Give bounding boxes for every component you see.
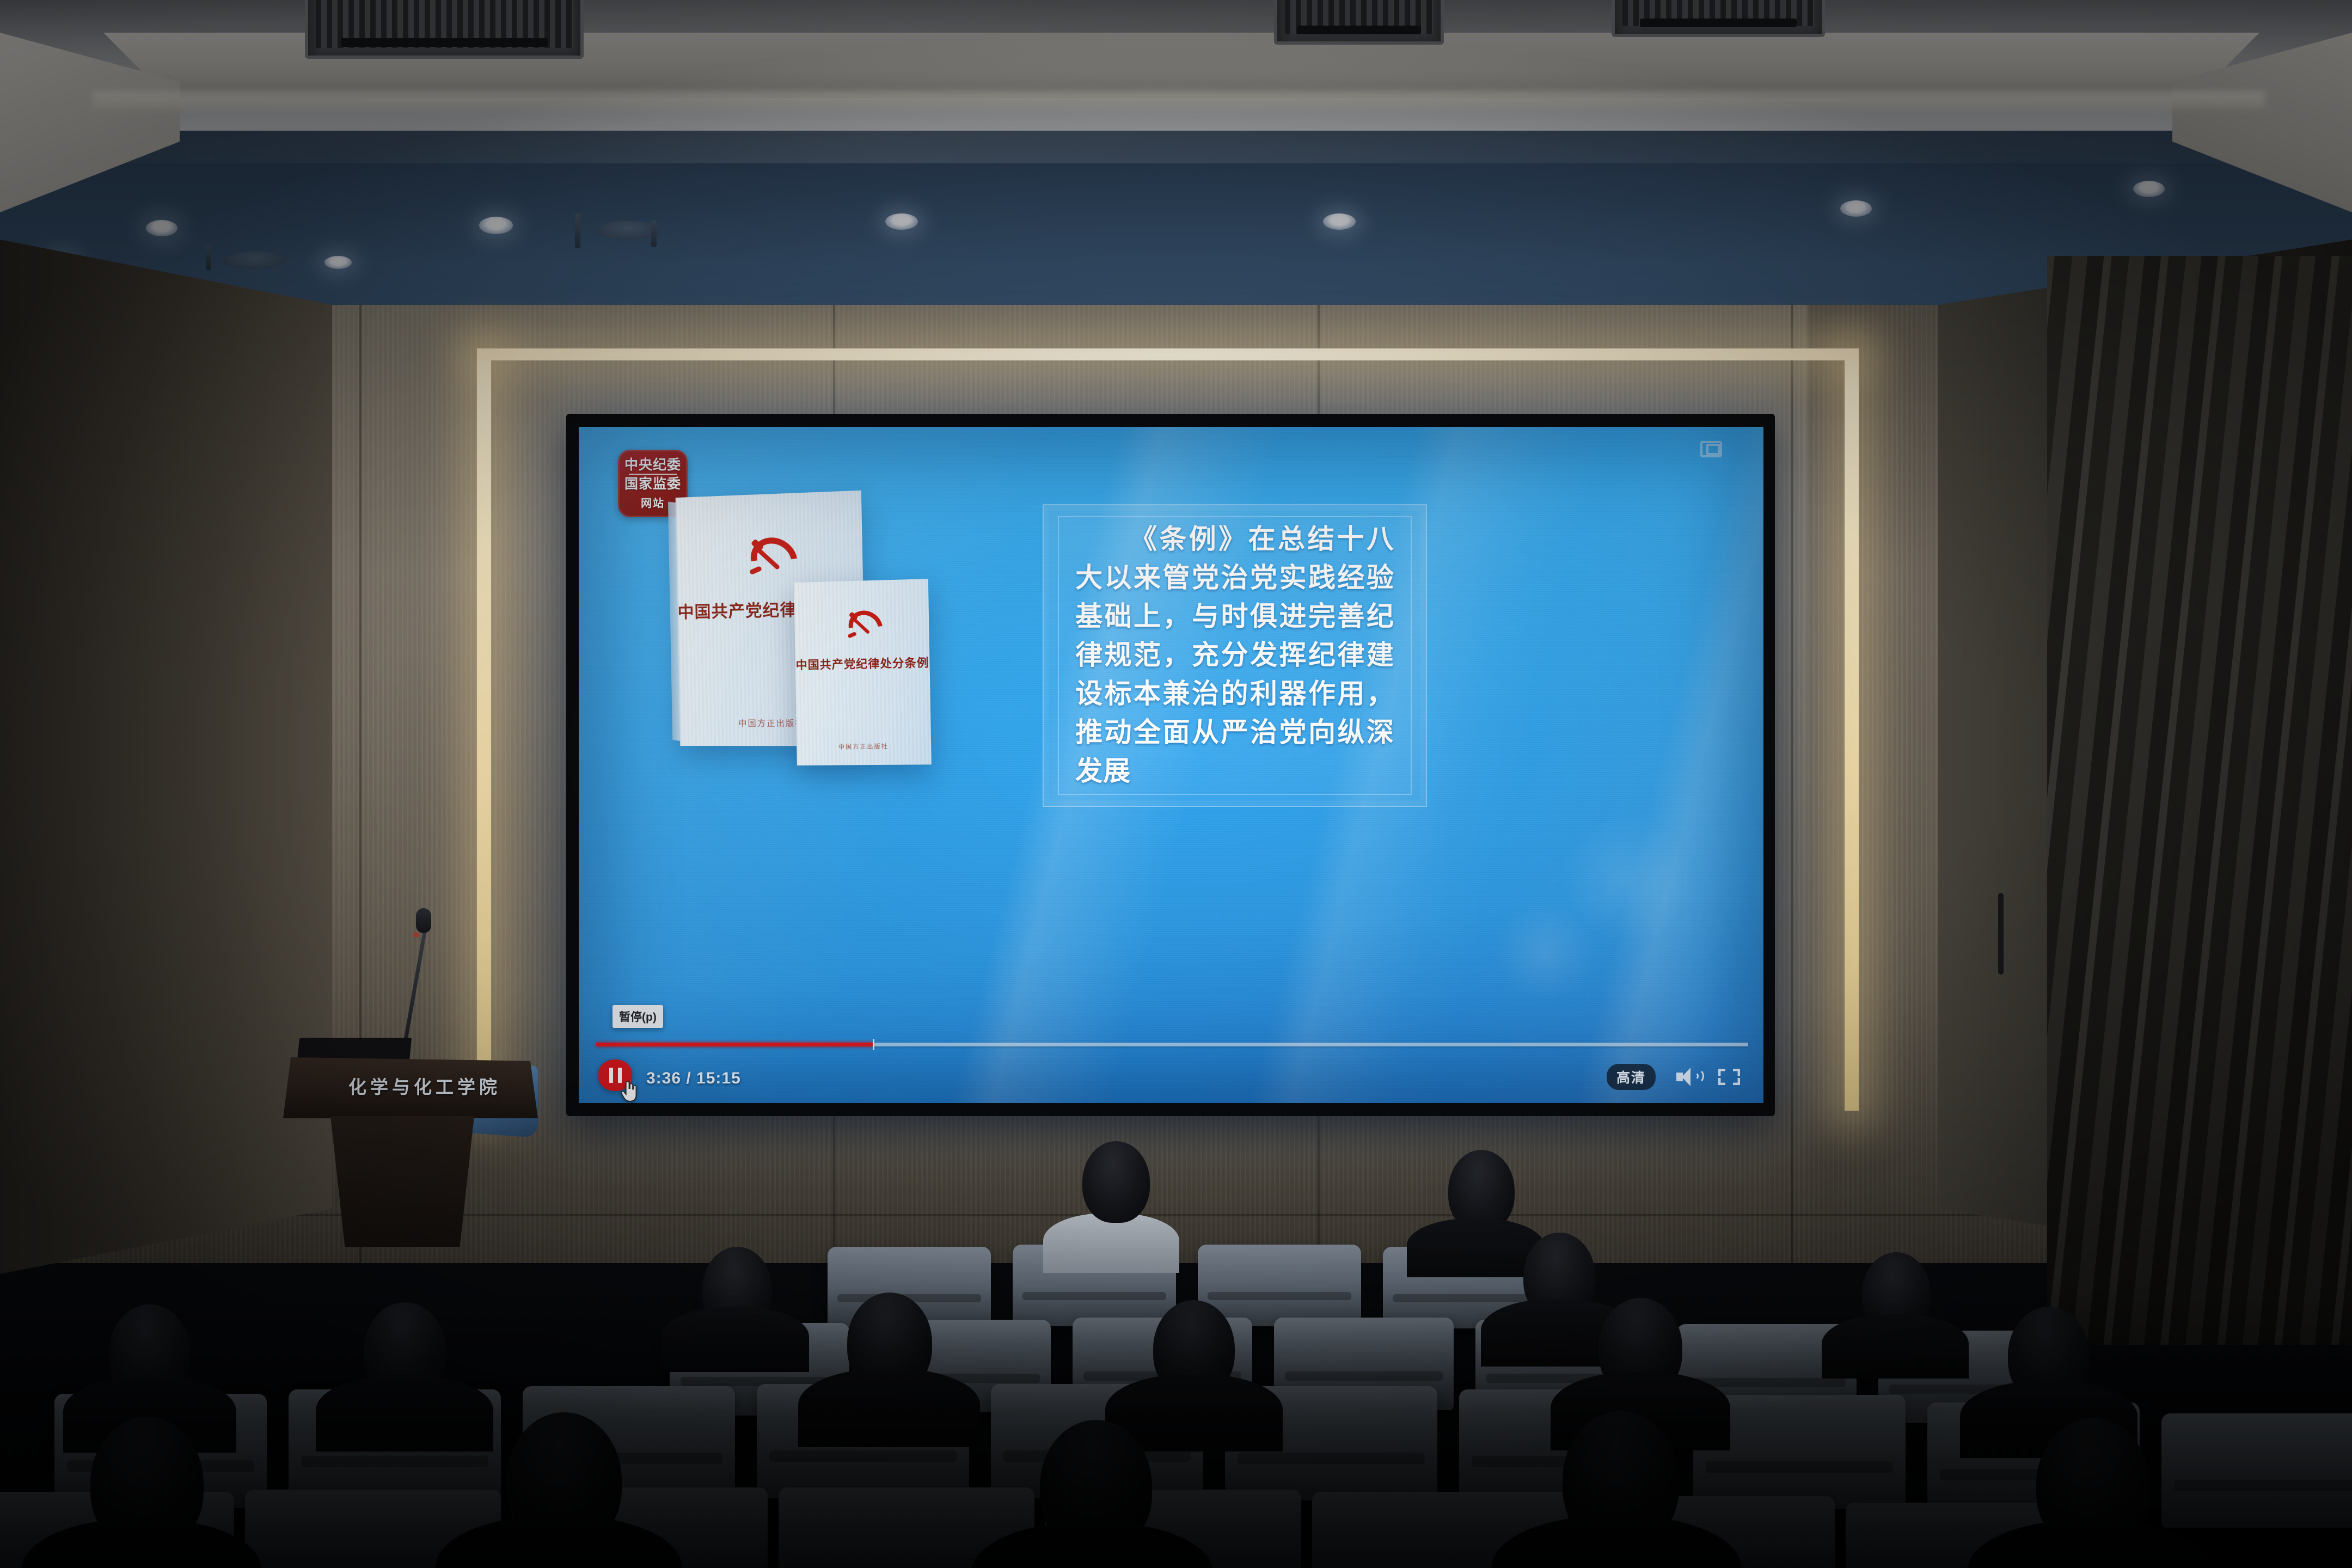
ceiling-downlight — [2133, 181, 2165, 197]
podium-top-panel — [297, 1038, 412, 1061]
ceiling-downlight — [1840, 200, 1872, 217]
microphone-indicator — [413, 932, 419, 938]
door-handle — [1998, 893, 2004, 975]
watermark-line-2: 国家监委 — [624, 476, 681, 492]
lectern-podium: 化学与化工学院 — [283, 1044, 566, 1273]
progress-bar-fill — [596, 1043, 873, 1046]
book-title: 中国共产党纪律处分条例 — [795, 654, 929, 673]
podium-label: 化学与化工学院 — [283, 1073, 566, 1099]
ceiling-speaker-icon — [222, 252, 286, 269]
cove-light-glow — [93, 91, 2265, 110]
video-player-controls: 暂停(p) 3:36 / 15:15 高清 — [579, 983, 1763, 1103]
ceiling-downlight — [885, 213, 918, 230]
progress-bar-knob[interactable] — [873, 1039, 874, 1050]
wall-led-strip — [477, 348, 491, 1111]
ceiling-sensor-icon — [651, 220, 657, 247]
book-cover-small: 中国共产党纪律处分条例 中国方正出版社 — [794, 579, 932, 765]
ceiling-downlight — [324, 256, 352, 269]
watermark-divider — [629, 474, 677, 475]
audience-member — [661, 1307, 809, 1372]
pause-tooltip: 暂停(p) — [612, 1005, 663, 1028]
podium-column — [313, 1116, 492, 1247]
wall-led-strip — [1845, 348, 1859, 1111]
pointing-hand-cursor — [619, 1078, 638, 1102]
lecture-hall-room: 中央纪委 国家监委 网站 — [0, 0, 2352, 1568]
auditorium-seat — [2161, 1413, 2352, 1528]
lecture-hall-screenshot: 中央纪委 国家监委 网站 — [0, 0, 2352, 1568]
exit-fullscreen-icon[interactable] — [1718, 1067, 1741, 1087]
time-display: 3:36 / 15:15 — [646, 1069, 741, 1088]
watermark-line-3: 网站 — [641, 494, 665, 510]
picture-in-picture-icon[interactable] — [1700, 441, 1722, 457]
ac-vent-icon — [1612, 0, 1825, 37]
progress-bar-track[interactable] — [596, 1043, 1748, 1046]
wall-seam — [1791, 305, 1793, 1263]
hammer-and-sickle-icon — [748, 536, 789, 576]
book-publisher: 中国方正出版社 — [797, 742, 931, 751]
wall-led-strip — [477, 348, 1859, 360]
player-right-controls: 高清 — [1607, 1064, 1741, 1090]
ceiling-sensor-icon — [206, 245, 211, 270]
ceiling-speaker-icon — [596, 221, 660, 240]
audience-member — [316, 1375, 493, 1451]
audience-member-head — [1082, 1141, 1150, 1223]
window-curtain — [2047, 256, 2352, 1345]
ceiling-downlight — [146, 220, 177, 236]
volume-icon[interactable] — [1675, 1067, 1698, 1087]
ceiling-downlight — [479, 217, 513, 234]
ac-vent-icon — [1274, 0, 1444, 45]
watermark-line-1: 中央纪委 — [624, 457, 681, 473]
quality-badge[interactable]: 高清 — [1607, 1064, 1656, 1090]
left-side-wall — [0, 240, 332, 1274]
pause-icon-bar-left — [609, 1068, 613, 1083]
ceiling-downlight — [1323, 213, 1356, 230]
ceiling-sensor-icon — [575, 213, 580, 248]
audience-member — [798, 1369, 980, 1447]
slide-body-text: 《条例》在总结十八大以来管党治党实践经验基础上，与时俱进完善纪律规范，充分发挥纪… — [1059, 520, 1411, 791]
audience-member — [1822, 1314, 1969, 1379]
slide-text-panel: 《条例》在总结十八大以来管党治党实践经验基础上，与时俱进完善纪律规范，充分发挥纪… — [1043, 504, 1427, 807]
microphone-icon — [416, 908, 431, 933]
ac-vent-icon — [305, 0, 584, 59]
hammer-and-sickle-icon — [846, 610, 877, 639]
led-display-screen[interactable]: 中央纪委 国家监委 网站 — [579, 427, 1763, 1103]
slide-text-panel-inner-border: 《条例》在总结十八大以来管党治党实践经验基础上，与时俱进完善纪律规范，充分发挥纪… — [1058, 516, 1412, 795]
